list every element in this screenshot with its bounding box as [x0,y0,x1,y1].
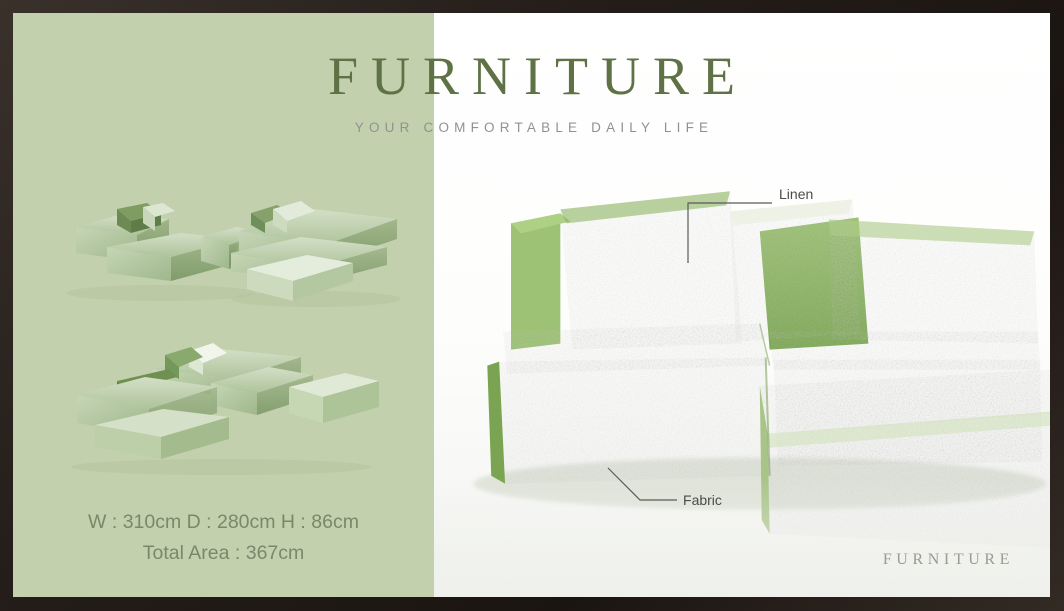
spec-total-area: Total Area : 367cm [13,538,434,569]
spec-dimensions: W : 310cm D : 280cm H : 86cm [13,507,434,538]
annotation-linen: Linen [779,186,813,202]
hero-sofa-scene: Linen Fabric FURNITURE [434,13,1050,597]
picture-frame: FURNITURE YOUR COMFORTABLE DAILY LIFE [0,0,1064,611]
specifications: W : 310cm D : 280cm H : 86cm Total Area … [13,507,434,569]
modular-arrangement-bottom [61,335,401,475]
brand-watermark: FURNITURE [883,551,1014,569]
poster-canvas: FURNITURE YOUR COMFORTABLE DAILY LIFE [13,13,1050,597]
annotation-fabric: Fabric [683,492,722,508]
annotation-leaders [434,13,1050,597]
modular-arrangement-top-right [221,183,411,308]
